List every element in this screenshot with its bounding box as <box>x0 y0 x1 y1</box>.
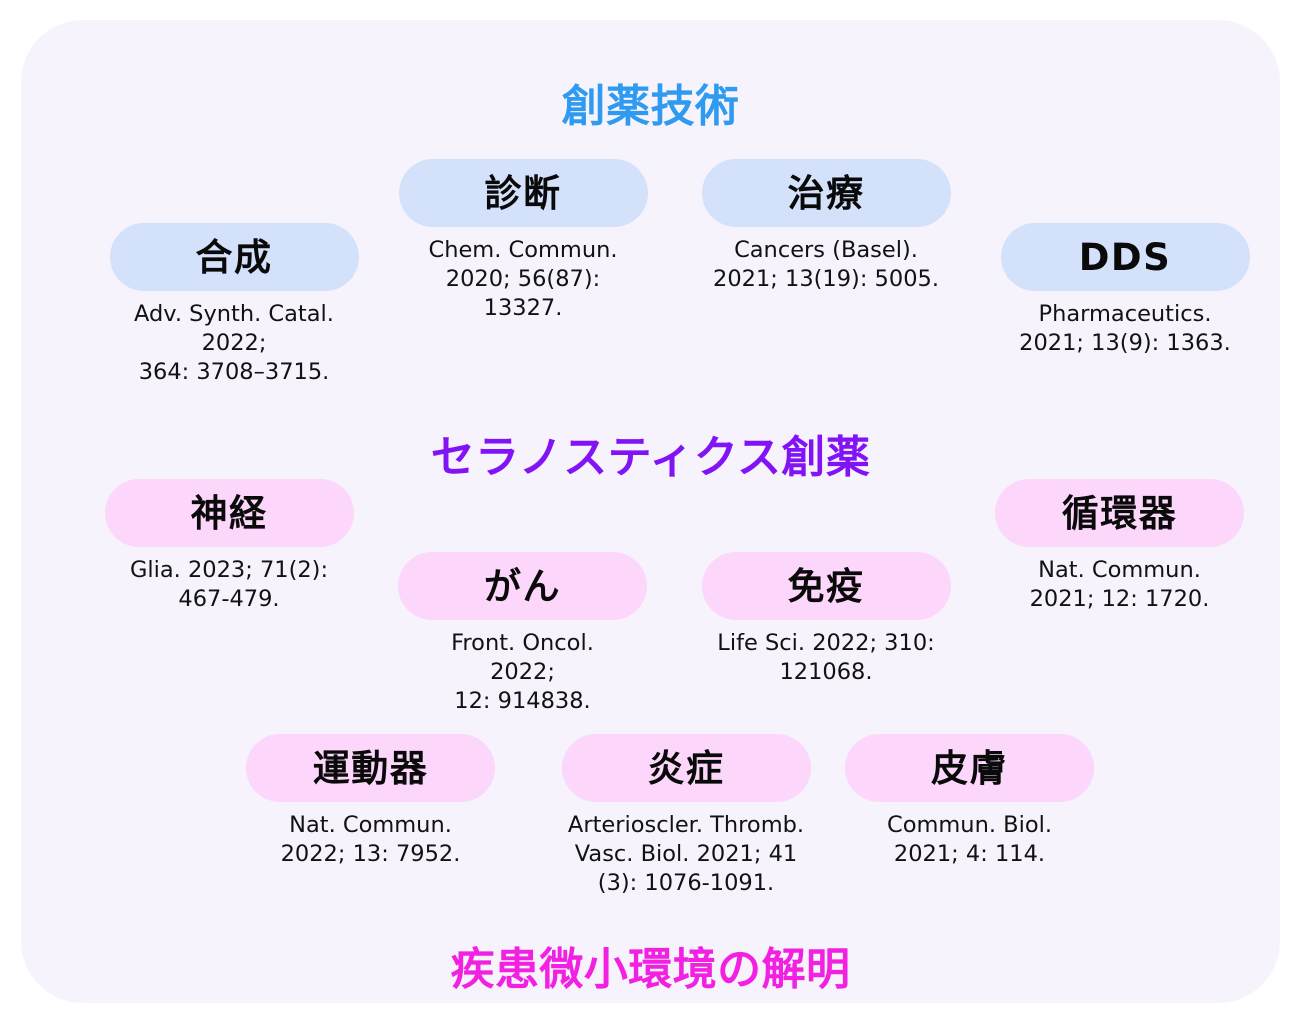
citation-dds: Pharmaceutics. 2021; 13(9): 1363. <box>995 300 1255 358</box>
pill-label-dds[interactable]: DDS <box>1001 223 1250 291</box>
citation-therapy: Cancers (Basel). 2021; 13(19): 5005. <box>696 236 956 294</box>
citation-neurology: Glia. 2023; 71(2): 467-479. <box>99 556 359 614</box>
citation-immunology: Life Sci. 2022; 310: 121068. <box>696 629 956 687</box>
section-title-theranostics-drug-discovery: セラノスティクス創薬 <box>21 421 1280 485</box>
citation-dermatology: Commun. Biol. 2021; 4: 114. <box>855 811 1085 869</box>
node-cardiovascular[interactable]: 循環器 Nat. Commun. 2021; 12: 1720. <box>995 479 1244 614</box>
node-therapy[interactable]: 治療 Cancers (Basel). 2021; 13(19): 5005. <box>696 159 956 294</box>
citation-cardiovascular: Nat. Commun. 2021; 12: 1720. <box>1000 556 1240 614</box>
node-dds[interactable]: DDS Pharmaceutics. 2021; 13(9): 1363. <box>995 223 1255 358</box>
citation-cancer: Front. Oncol. 2022; 12: 914838. <box>418 629 628 715</box>
pill-label-synthesis[interactable]: 合成 <box>110 223 359 291</box>
pill-label-inflammation[interactable]: 炎症 <box>562 734 811 802</box>
citation-musculoskeletal: Nat. Commun. 2022; 13: 7952. <box>256 811 486 869</box>
pill-label-dermatology[interactable]: 皮膚 <box>845 734 1094 802</box>
node-inflammation[interactable]: 炎症 Arterioscler. Thromb. Vasc. Biol. 202… <box>546 734 826 897</box>
pill-label-diagnosis[interactable]: 診断 <box>399 159 648 227</box>
node-musculoskeletal[interactable]: 運動器 Nat. Commun. 2022; 13: 7952. <box>246 734 495 869</box>
node-neurology[interactable]: 神経 Glia. 2023; 71(2): 467-479. <box>99 479 359 614</box>
citation-synthesis: Adv. Synth. Catal. 2022; 364: 3708–3715. <box>99 300 369 386</box>
node-dermatology[interactable]: 皮膚 Commun. Biol. 2021; 4: 114. <box>845 734 1094 869</box>
section-title-disease-microenvironment: 疾患微小環境の解明 <box>21 933 1280 997</box>
pill-label-cardiovascular[interactable]: 循環器 <box>995 479 1244 547</box>
node-cancer[interactable]: がん Front. Oncol. 2022; 12: 914838. <box>398 552 647 715</box>
pill-label-therapy[interactable]: 治療 <box>702 159 951 227</box>
citation-diagnosis: Chem. Commun. 2020; 56(87): 13327. <box>398 236 648 322</box>
citation-inflammation: Arterioscler. Thromb. Vasc. Biol. 2021; … <box>546 811 826 897</box>
section-title-drug-discovery-technology: 創薬技術 <box>21 70 1280 134</box>
pill-label-neurology[interactable]: 神経 <box>105 479 354 547</box>
pill-label-musculoskeletal[interactable]: 運動器 <box>246 734 495 802</box>
pill-label-immunology[interactable]: 免疫 <box>702 552 951 620</box>
node-diagnosis[interactable]: 診断 Chem. Commun. 2020; 56(87): 13327. <box>398 159 648 322</box>
theranostics-drug-discovery-diagram: 創薬技術 セラノスティクス創薬 疾患微小環境の解明 合成 Adv. Synth.… <box>0 0 1300 1023</box>
pill-label-cancer[interactable]: がん <box>398 552 647 620</box>
diagram-panel: 創薬技術 セラノスティクス創薬 疾患微小環境の解明 合成 Adv. Synth.… <box>21 20 1280 1003</box>
node-synthesis[interactable]: 合成 Adv. Synth. Catal. 2022; 364: 3708–37… <box>99 223 369 386</box>
node-immunology[interactable]: 免疫 Life Sci. 2022; 310: 121068. <box>696 552 956 687</box>
